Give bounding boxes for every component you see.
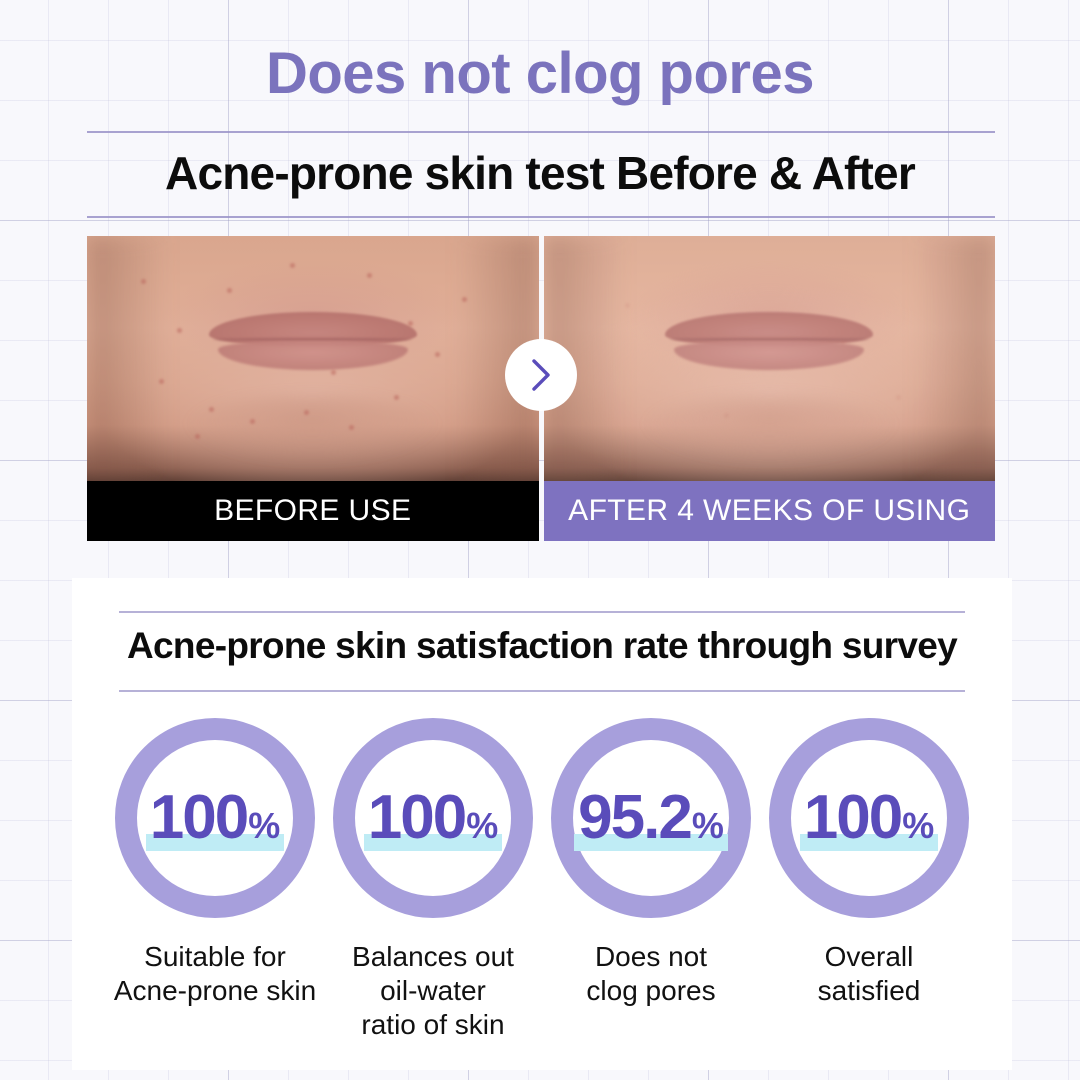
stat-label: Overall satisfied [818, 940, 921, 1008]
survey-divider-top [119, 611, 965, 613]
stat-unit: % [248, 808, 280, 844]
stat-item: 95.2 % Does not clog pores [542, 718, 760, 1008]
stat-number: 95.2 [578, 787, 691, 849]
satisfaction-stats: 100 % Suitable for Acne-prone skin 100 %… [106, 718, 978, 1042]
stat-unit: % [466, 808, 498, 844]
survey-divider-bottom [119, 690, 965, 692]
stat-label: Suitable for Acne-prone skin [114, 940, 316, 1008]
stat-item: 100 % Balances out oil-water ratio of sk… [324, 718, 542, 1042]
promo-page: Does not clog pores Acne-prone skin test… [0, 0, 1080, 1080]
stat-number: 100 [368, 787, 465, 849]
stat-value: 100 % [804, 787, 934, 849]
survey-title: Acne-prone skin satisfaction rate throug… [72, 625, 1012, 667]
stat-value: 95.2 % [578, 787, 724, 849]
chevron-right-icon [528, 358, 554, 392]
after-caption: AFTER 4 WEEKS OF USING [544, 481, 996, 541]
stat-unit: % [902, 808, 934, 844]
title-divider-top [87, 131, 995, 133]
title-divider-bottom [87, 216, 995, 218]
stat-ring: 100 % [769, 718, 969, 918]
stat-label: Balances out oil-water ratio of skin [352, 940, 514, 1042]
stat-unit: % [692, 808, 724, 844]
page-subtitle: Acne-prone skin test Before & After [0, 148, 1080, 199]
stat-value: 100 % [368, 787, 498, 849]
stat-item: 100 % Suitable for Acne-prone skin [106, 718, 324, 1008]
stat-ring: 100 % [333, 718, 533, 918]
stat-ring: 95.2 % [551, 718, 751, 918]
next-slide-button[interactable] [505, 339, 577, 411]
stat-ring: 100 % [115, 718, 315, 918]
before-panel: BEFORE USE [87, 236, 539, 541]
stat-number: 100 [150, 787, 247, 849]
stat-label: Does not clog pores [586, 940, 715, 1008]
stat-value: 100 % [150, 787, 280, 849]
stat-item: 100 % Overall satisfied [760, 718, 978, 1008]
survey-card: Acne-prone skin satisfaction rate throug… [72, 578, 1012, 1070]
after-panel: AFTER 4 WEEKS OF USING [544, 236, 996, 541]
before-caption: BEFORE USE [87, 481, 539, 541]
page-title: Does not clog pores [0, 44, 1080, 105]
stat-number: 100 [804, 787, 901, 849]
